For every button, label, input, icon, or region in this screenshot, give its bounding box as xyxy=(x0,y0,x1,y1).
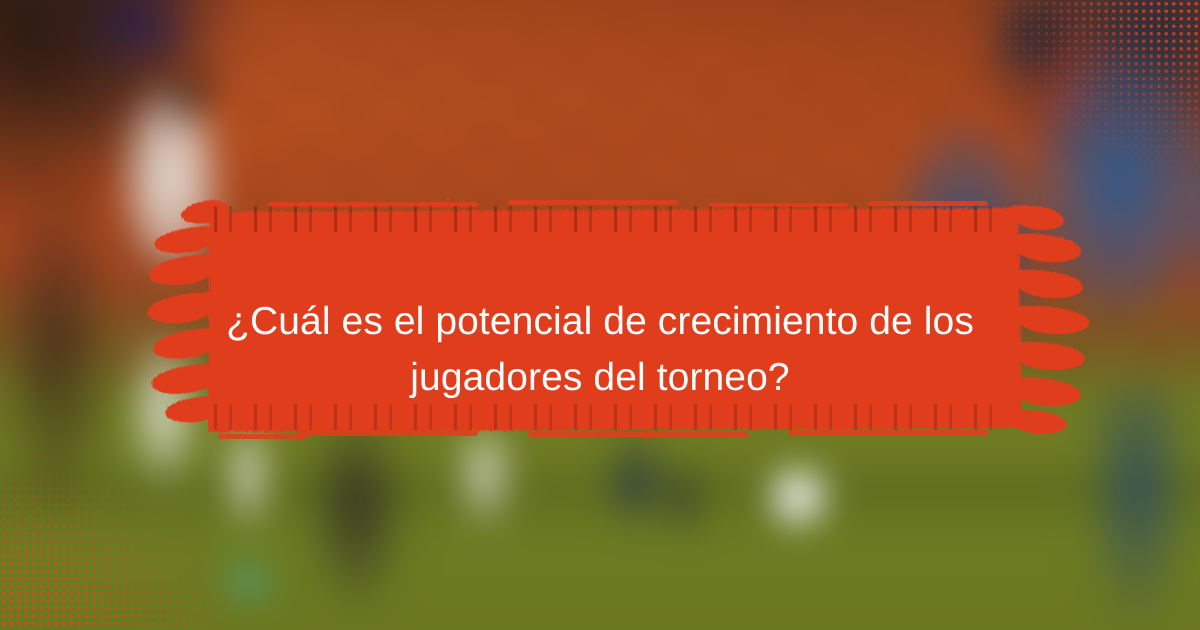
right-player-legs xyxy=(1086,386,1188,627)
teal-football-boot xyxy=(222,564,273,600)
white-jersey-player-head xyxy=(158,59,216,137)
social-card: ¿Cuál es el potencial de crecimiento de … xyxy=(0,0,1200,630)
headline-text: ¿Cuál es el potencial de crecimiento de … xyxy=(180,294,1020,405)
football-ball xyxy=(773,471,827,528)
brush-top-flecks xyxy=(268,200,988,207)
brush-bottom-flecks xyxy=(218,430,988,439)
